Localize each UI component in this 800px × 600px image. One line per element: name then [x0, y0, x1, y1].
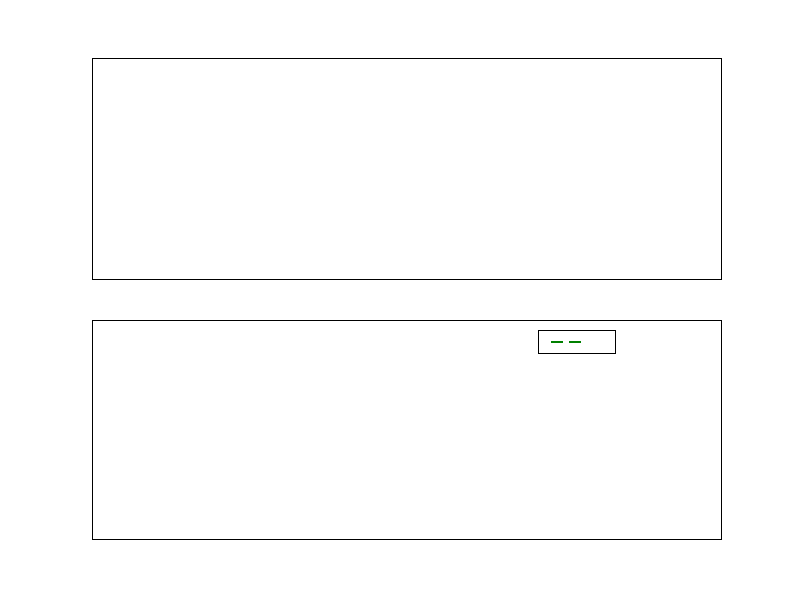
cumulative-axes — [92, 320, 722, 540]
figure-canvas — [0, 0, 800, 600]
mag-limit-legend-swatch — [549, 336, 593, 348]
legend-box[interactable] — [538, 330, 616, 354]
histogram-bars-layer — [93, 59, 721, 279]
cumulative-curve-svg — [93, 321, 721, 539]
cumulative-plot-layer — [93, 321, 721, 539]
histogram-axes — [92, 58, 722, 280]
